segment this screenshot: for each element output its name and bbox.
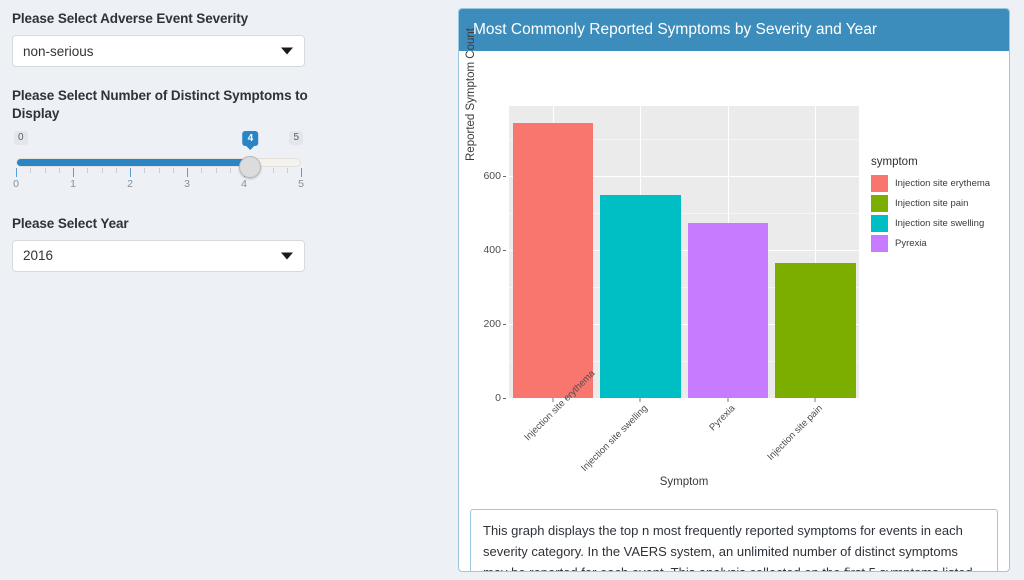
legend-swatch	[871, 195, 888, 212]
slider-tick-labels: 012345	[16, 178, 301, 192]
x-axis-tickmark	[815, 398, 816, 402]
slider-handle[interactable]	[239, 156, 261, 178]
x-axis-tick-label: Injection site erythema	[522, 403, 562, 443]
x-axis-title: Symptom	[509, 476, 859, 488]
symptom-count-label: Please Select Number of Distinct Symptom…	[12, 87, 318, 123]
slider-tick	[159, 168, 160, 173]
slider-tick	[216, 168, 217, 173]
legend-label: Injection site erythema	[895, 178, 990, 189]
sidebar-controls: Please Select Adverse Event Severity non…	[0, 0, 330, 580]
legend-title: symptom	[871, 156, 1001, 168]
chart-description: This graph displays the top n most frequ…	[470, 509, 998, 572]
severity-select-value: non-serious	[23, 44, 94, 59]
x-axis-tick-labels: Injection site erythemaInjection site sw…	[509, 403, 859, 473]
x-axis-tick-label: Injection site swelling	[548, 403, 650, 505]
legend-item: Pyrexia	[871, 235, 1001, 252]
slider-tick	[45, 168, 46, 173]
slider-tick	[30, 168, 31, 173]
slider-tick	[187, 168, 188, 177]
bar-injection-site-pain	[775, 263, 856, 398]
slider-tick	[144, 168, 145, 173]
chevron-down-icon	[281, 252, 293, 259]
legend-swatch	[871, 215, 888, 232]
symptom-bar-chart: Reported Symptom Count 0200400600 Inject…	[459, 51, 1009, 471]
bar-pyrexia	[688, 223, 769, 398]
slider-tick	[201, 168, 202, 173]
slider-min-label: 0	[14, 131, 28, 145]
severity-select[interactable]: non-serious	[12, 35, 305, 67]
slider-tick	[301, 168, 302, 177]
y-axis-tick-labels: 0200400600	[479, 51, 507, 471]
y-axis-tick-label: 400	[483, 244, 501, 256]
year-select[interactable]: 2016	[12, 240, 305, 272]
slider-tick-label: 1	[70, 178, 76, 190]
slider-tick-label: 5	[298, 178, 304, 190]
slider-tick	[116, 168, 117, 173]
plot-area	[509, 106, 859, 398]
y-axis-title: Reported Symptom Count	[465, 28, 477, 161]
slider-tick-label: 4	[241, 178, 247, 190]
slider-tick	[273, 168, 274, 173]
chevron-down-icon	[281, 48, 293, 55]
year-select-value: 2016	[23, 248, 53, 263]
slider-tick-label: 0	[13, 178, 19, 190]
legend-item: Injection site erythema	[871, 175, 1001, 192]
severity-label: Please Select Adverse Event Severity	[12, 10, 318, 28]
year-label: Please Select Year	[12, 215, 318, 233]
slider-value-bubble: 4	[243, 131, 259, 146]
y-axis-tick-label: 200	[483, 318, 501, 330]
chart-panel: Most Commonly Reported Symptoms by Sever…	[458, 8, 1010, 572]
slider-tick	[230, 168, 231, 173]
x-axis-tickmark	[640, 398, 641, 402]
x-axis-tickmark	[552, 398, 553, 402]
slider-fill	[17, 159, 243, 166]
panel-title: Most Commonly Reported Symptoms by Sever…	[459, 9, 1009, 51]
slider-tick-label: 3	[184, 178, 190, 190]
legend-label: Injection site pain	[895, 198, 968, 209]
slider-tick	[102, 168, 103, 173]
y-axis-tick-label: 600	[483, 170, 501, 182]
legend-label: Injection site swelling	[895, 218, 984, 229]
slider-max-label: 5	[289, 131, 303, 145]
x-axis-tickmark	[727, 398, 728, 402]
legend-items: Injection site erythemaInjection site pa…	[871, 175, 1001, 252]
legend-label: Pyrexia	[895, 238, 927, 249]
bar-injection-site-erythema	[513, 123, 594, 398]
bar-injection-site-swelling	[600, 195, 681, 398]
panel-body: Reported Symptom Count 0200400600 Inject…	[459, 51, 1009, 571]
slider-tick	[16, 168, 17, 177]
slider-tick	[59, 168, 60, 173]
slider-tick	[173, 168, 174, 173]
slider-tick	[130, 168, 131, 177]
y-axis-tick-label: 0	[495, 392, 501, 404]
legend-item: Injection site swelling	[871, 215, 1001, 232]
symptom-count-slider[interactable]: 0 5 4 012345	[12, 131, 305, 193]
slider-tick-label: 2	[127, 178, 133, 190]
app-root: Please Select Adverse Event Severity non…	[0, 0, 1024, 580]
chart-legend: symptom Injection site erythemaInjection…	[871, 156, 1001, 255]
legend-swatch	[871, 175, 888, 192]
slider-tick	[287, 168, 288, 173]
slider-tick	[73, 168, 74, 177]
legend-item: Injection site pain	[871, 195, 1001, 212]
slider-tick	[87, 168, 88, 173]
legend-swatch	[871, 235, 888, 252]
